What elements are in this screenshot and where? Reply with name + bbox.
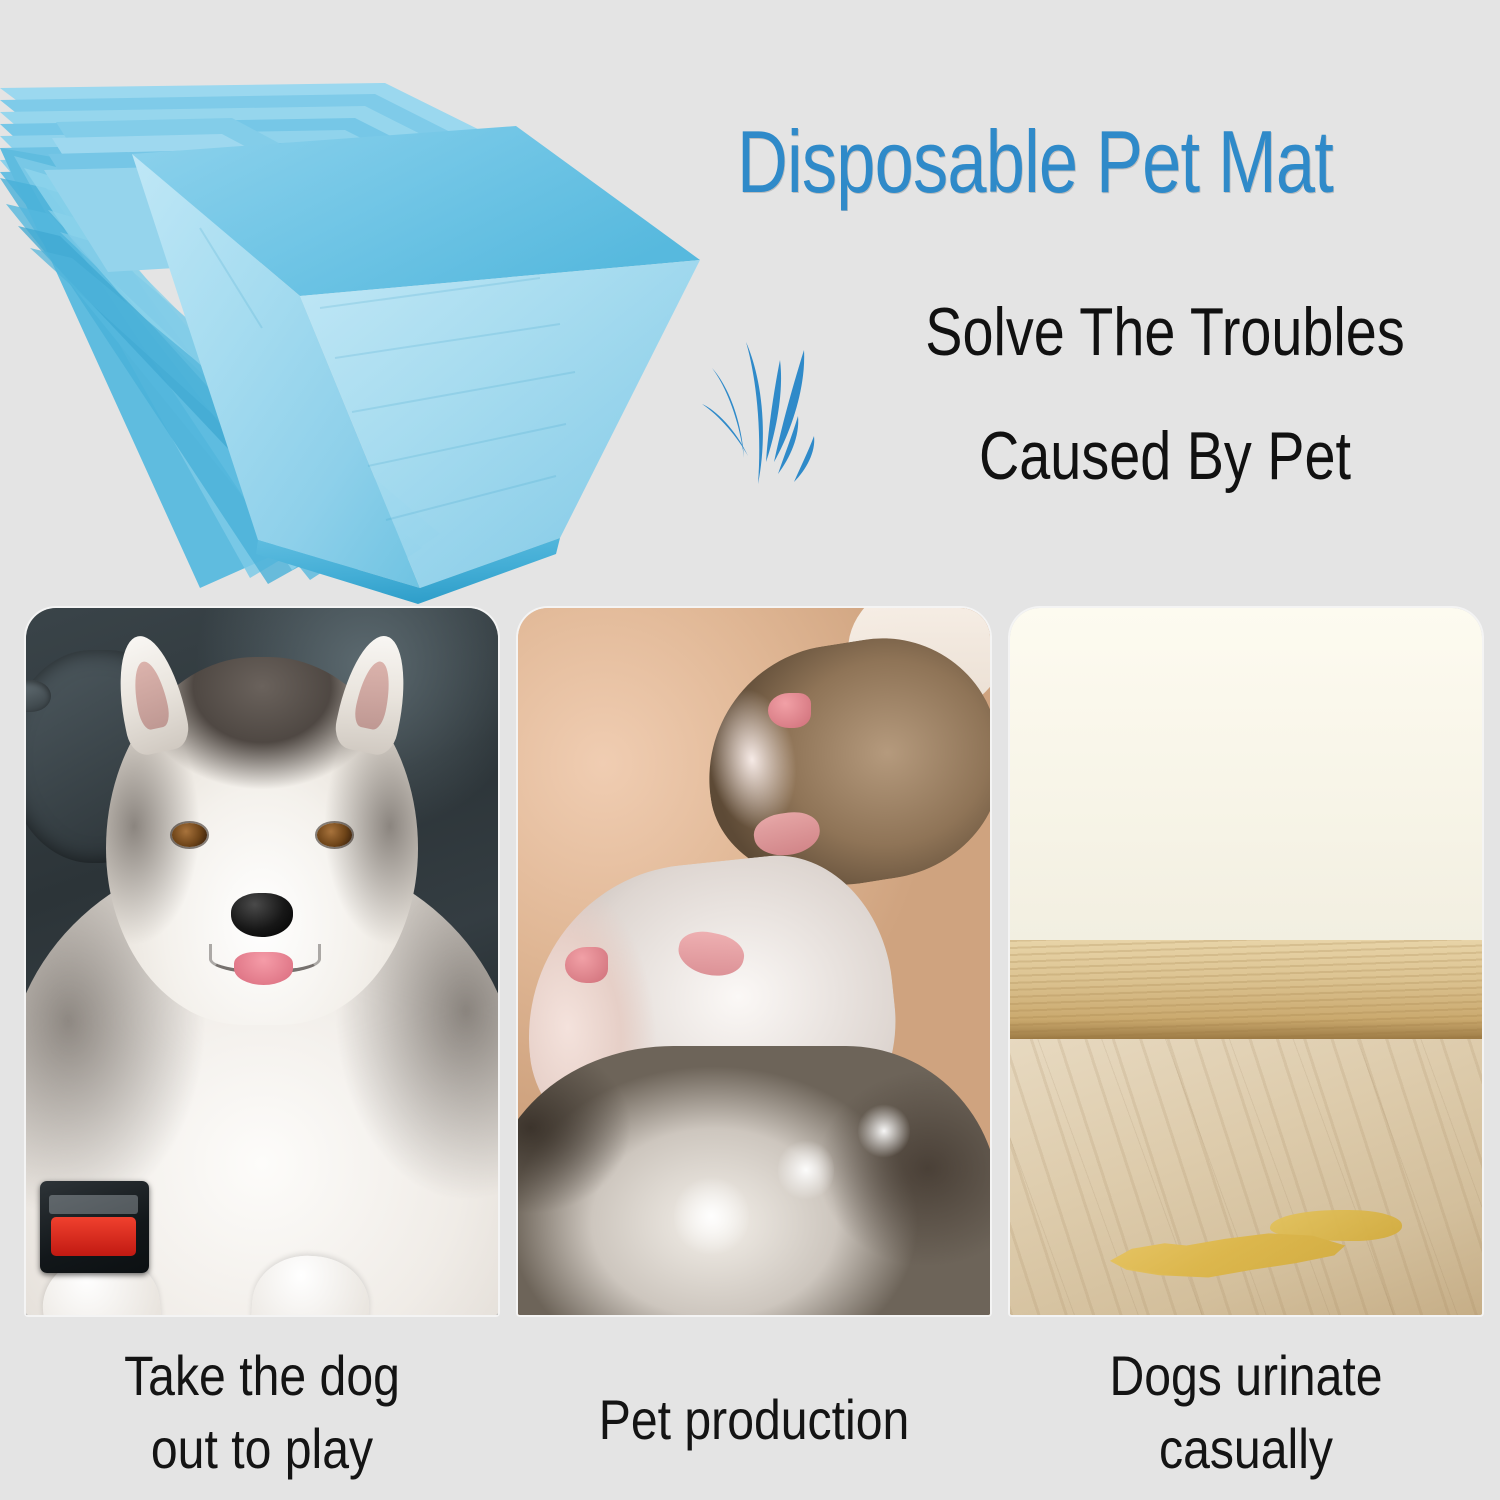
kittens-scene — [518, 608, 990, 1315]
fur-highlight-1 — [674, 1174, 750, 1259]
caption-husky-line-2: out to play — [59, 1413, 465, 1486]
husky-tongue — [234, 952, 293, 985]
pad-stack-illustration — [0, 28, 740, 608]
gallery-photo-urine-on-floor — [1010, 608, 1482, 1315]
husky-eye-left — [172, 823, 208, 847]
caption-husky-line-1: Take the dog — [59, 1340, 465, 1413]
caption-husky: Take the dog out to play — [59, 1340, 465, 1486]
kitten-body-lower — [518, 1046, 990, 1315]
caption-floor-line-1: Dogs urinate — [1043, 1340, 1449, 1413]
wooden-floor — [1010, 1039, 1482, 1315]
cream-wall — [1010, 608, 1482, 940]
husky-scene — [26, 608, 498, 1315]
kitten-nose-upper — [768, 693, 810, 728]
splash-icon-svg — [700, 338, 830, 493]
car-door-handle — [26, 680, 51, 712]
gallery-photo-husky-in-car — [26, 608, 498, 1315]
water-splash-grass-icon — [700, 338, 830, 493]
page-title: Disposable Pet Mat — [687, 118, 1383, 206]
fur-highlight-2 — [778, 1138, 835, 1202]
product-marketing-image: Disposable Pet Mat Solve The Troubles Ca… — [0, 0, 1500, 1500]
caption-floor: Dogs urinate casually — [1043, 1340, 1449, 1486]
fur-highlight-3 — [858, 1103, 910, 1160]
floor-scene — [1010, 608, 1482, 1315]
gallery-photo-newborn-kittens — [518, 608, 990, 1315]
caption-kittens-line-1: Pet production — [551, 1384, 957, 1457]
kitten-nose-front — [565, 947, 607, 982]
seatbelt-buckle — [40, 1181, 149, 1273]
pad-stack-svg — [0, 28, 740, 608]
subtitle-line-2: Caused By Pet — [903, 422, 1428, 490]
husky-head — [106, 657, 418, 1025]
caption-floor-line-2: casually — [1043, 1413, 1449, 1486]
subtitle-block: Solve The Troubles Caused By Pet — [845, 298, 1485, 490]
wooden-baseboard — [1010, 940, 1482, 1039]
husky-paw-right — [248, 1252, 372, 1315]
caption-kittens: Pet production — [551, 1384, 957, 1457]
subtitle-line-1: Solve The Troubles — [903, 298, 1428, 366]
husky-nose — [231, 893, 293, 937]
husky-eye-right — [317, 823, 353, 847]
